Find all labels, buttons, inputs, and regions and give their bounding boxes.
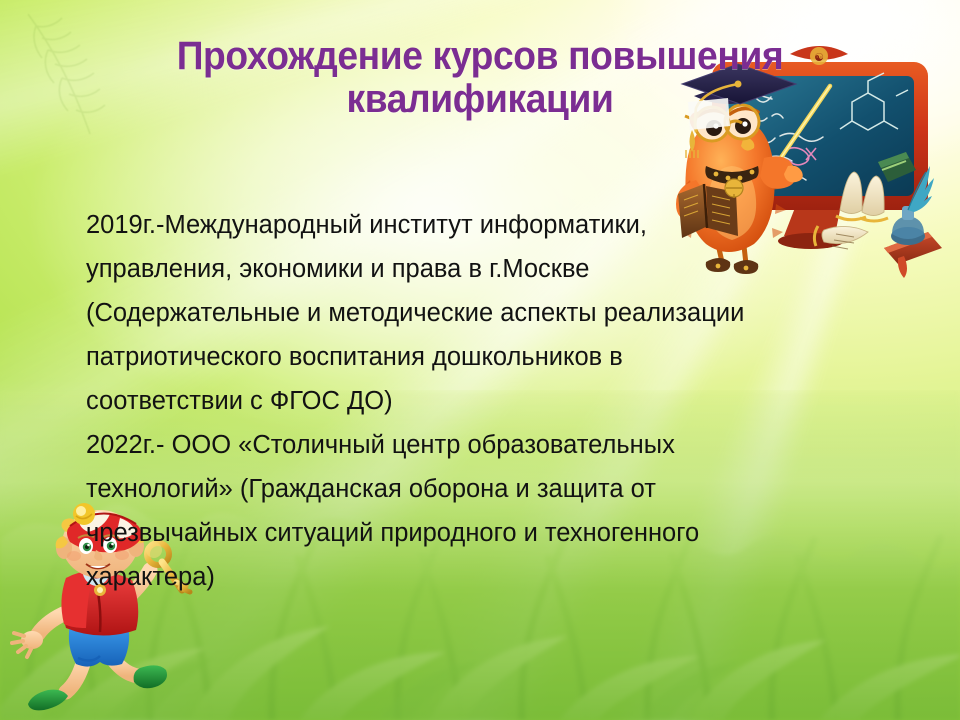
paragraph-2022: 2022г.- ООО «Столичный центр образовател… — [86, 423, 786, 599]
paragraph-2019: 2019г.-Международный институт информатик… — [86, 203, 786, 423]
presentation-slide: ☯ — [0, 0, 960, 720]
slide-body-text: 2019г.-Международный институт информатик… — [86, 203, 786, 599]
slide-title: Прохождение курсов повышения квалификаци… — [89, 35, 870, 121]
